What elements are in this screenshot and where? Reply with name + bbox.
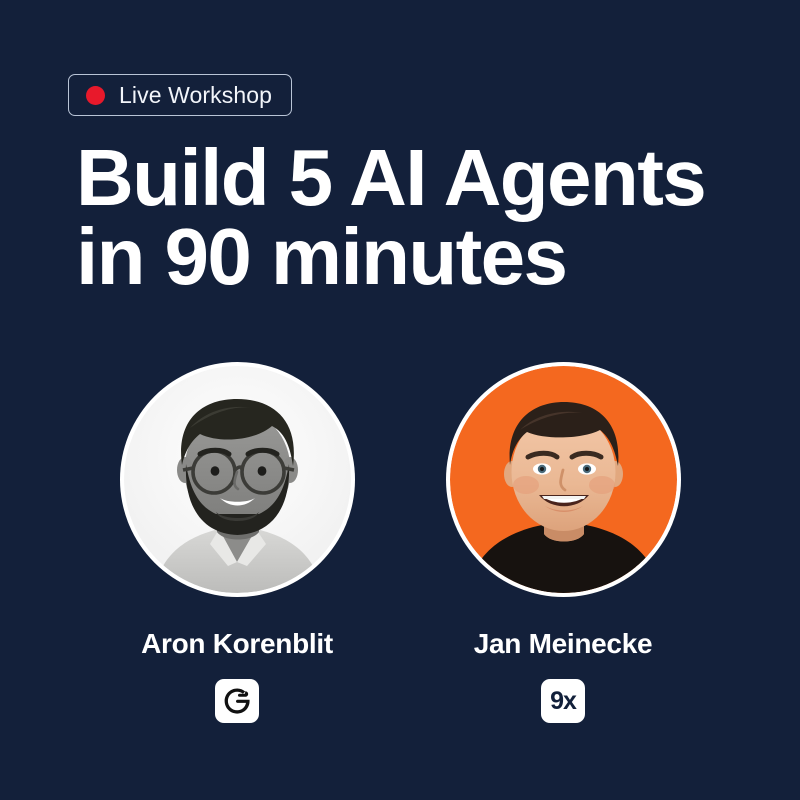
speaker-card-jan-meinecke: Jan Meinecke 9x bbox=[449, 366, 677, 723]
speaker-name: Aron Korenblit bbox=[141, 630, 333, 658]
speaker-name: Jan Meinecke bbox=[474, 630, 653, 658]
gamma-g-logo-icon bbox=[215, 679, 259, 723]
promo-poster: Live Workshop Build 5 AI Agents in 90 mi… bbox=[0, 0, 800, 800]
live-record-dot-icon bbox=[86, 86, 105, 105]
company-logo-text: 9x bbox=[550, 689, 576, 714]
badge-label: Live Workshop bbox=[119, 84, 272, 107]
live-workshop-badge: Live Workshop bbox=[68, 74, 292, 116]
aron-korenblit-avatar bbox=[124, 366, 351, 593]
9x-logo-icon: 9x bbox=[541, 679, 585, 723]
headline-line-2: in 90 minutes bbox=[76, 217, 776, 296]
jan-meinecke-avatar bbox=[450, 366, 677, 593]
speakers-row: Aron Korenblit bbox=[0, 366, 800, 723]
page-title: Build 5 AI Agents in 90 minutes bbox=[76, 138, 776, 296]
headline-line-1: Build 5 AI Agents bbox=[76, 138, 776, 217]
speaker-card-aron-korenblit: Aron Korenblit bbox=[123, 366, 351, 723]
